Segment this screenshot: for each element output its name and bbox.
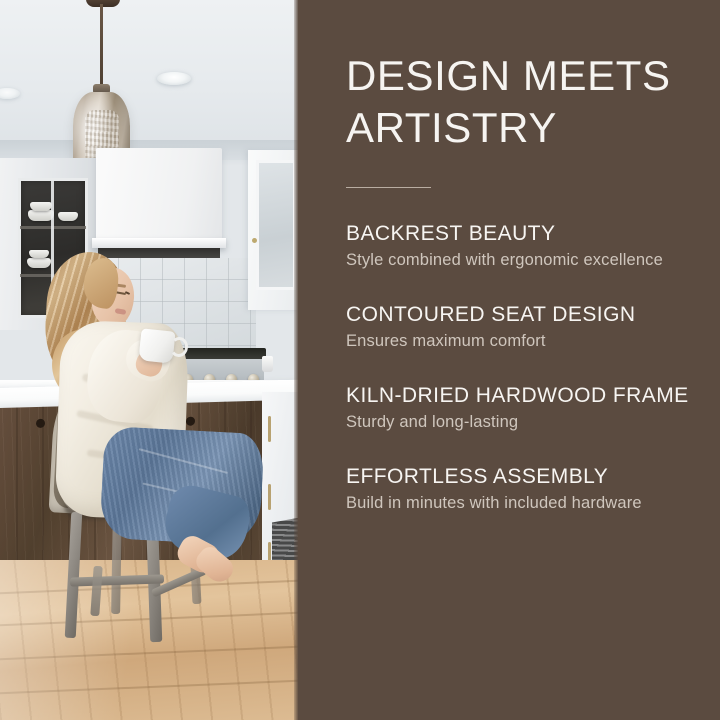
lifestyle-photo: [0, 0, 298, 720]
feature-description: Build in minutes with included hardware: [346, 493, 696, 514]
feature-item-effortless-assembly: EFFORTLESS ASSEMBLY Build in minutes wit…: [346, 463, 696, 514]
cabinet-knob: [252, 238, 257, 243]
dish-stack: [27, 258, 51, 268]
feature-description: Style combined with ergonomic excellence: [346, 250, 696, 271]
dish-stack: [29, 250, 49, 258]
upper-cabinet-right: [248, 150, 298, 310]
page-title: DESIGN MEETS ARTISTRY: [346, 0, 696, 154]
feature-description: Ensures maximum comfort: [346, 331, 696, 352]
feature-description: Sturdy and long-lasting: [346, 412, 696, 433]
feature-item-contoured-seat-design: CONTOURED SEAT DESIGN Ensures maximum co…: [346, 301, 696, 352]
range-hood-lip: [92, 238, 226, 248]
cabinet-pull: [268, 416, 271, 442]
feature-title: EFFORTLESS ASSEMBLY: [346, 463, 696, 490]
feature-text-panel: DESIGN MEETS ARTISTRY BACKREST BEAUTY St…: [298, 0, 720, 720]
jeans-seam: [139, 448, 228, 474]
headline-line-1: DESIGN MEETS: [346, 52, 671, 99]
kitchen-ceiling: [0, 0, 298, 160]
headline-line-2: ARTISTRY: [346, 104, 557, 151]
feature-list: BACKREST BEAUTY Style combined with ergo…: [346, 220, 696, 514]
kettle: [262, 356, 273, 372]
title-divider: [346, 187, 431, 188]
feature-item-kiln-dried-hardwood-frame: KILN-DRIED HARDWOOD FRAME Sturdy and lon…: [346, 382, 696, 433]
pendant-canopy: [86, 0, 120, 7]
range-hood: [96, 148, 222, 242]
feature-title: CONTOURED SEAT DESIGN: [346, 301, 696, 328]
dish-stack: [30, 202, 52, 211]
feature-title: BACKREST BEAUTY: [346, 220, 696, 247]
feature-item-backrest-beauty: BACKREST BEAUTY Style combined with ergo…: [346, 220, 696, 271]
cabinet-pull: [268, 484, 271, 510]
dish-stack: [58, 212, 78, 221]
pendant-cord: [100, 4, 103, 86]
product-feature-infographic: DESIGN MEETS ARTISTRY BACKREST BEAUTY St…: [0, 0, 720, 720]
cabinet-glass-pane: [256, 160, 296, 290]
recessed-light-icon: [157, 72, 191, 85]
feature-title: KILN-DRIED HARDWOOD FRAME: [346, 382, 696, 409]
